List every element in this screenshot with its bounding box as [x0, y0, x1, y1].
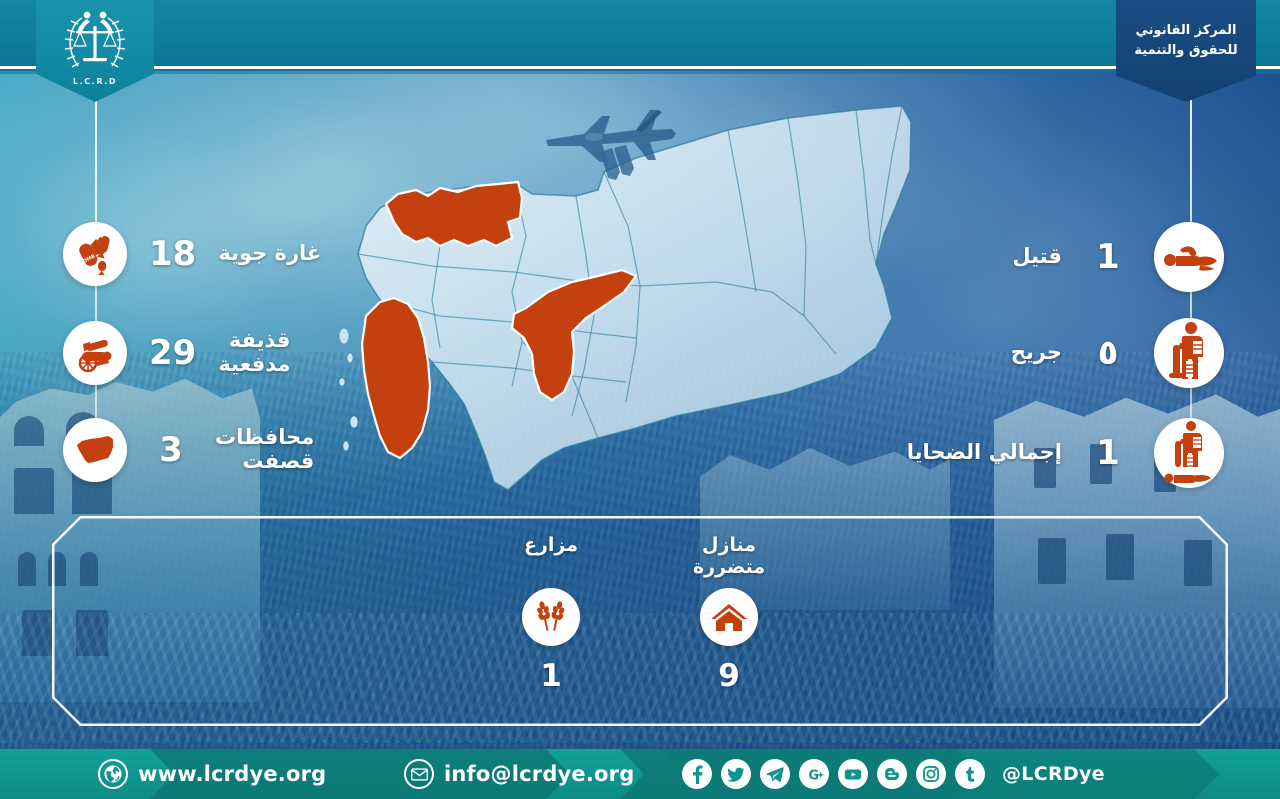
stat-row-total-victims: إجمالي الضحايا 1: [907, 418, 1224, 488]
damage-panel: مزارع: [52, 516, 1228, 726]
panel-value: 9: [718, 658, 740, 694]
org-name-line2: للحقوق والتنمية: [1134, 43, 1237, 58]
stat-label: محافظاتقصفت: [215, 426, 314, 474]
infographic-canvas: انتهاكات وجرائم التحالف السعودي في اليمن…: [0, 0, 1280, 799]
panel-item-farms: مزارع: [492, 534, 610, 694]
twitter-icon[interactable]: [721, 759, 751, 789]
stat-label: قتيل: [1012, 245, 1062, 269]
header-divider: [0, 66, 1280, 74]
stat-label: قذيفةمدفعية: [218, 329, 290, 377]
stat-label: إجمالي الضحايا: [907, 441, 1062, 465]
panel-item-damaged-houses: منازلمتضررة 9: [670, 534, 788, 694]
panel-label: منازلمتضررة: [693, 534, 765, 582]
youtube-icon[interactable]: [838, 759, 868, 789]
stat-row-injured: جريح ٥: [1011, 318, 1224, 388]
yemen-map-icon: [63, 418, 127, 482]
stat-row-artillery: 29 قذيفةمدفعية: [63, 321, 290, 385]
footer-bar: www.lcrdye.org info@lcrdye.org: [0, 749, 1280, 799]
stat-value: 3: [149, 433, 193, 467]
stat-value: 29: [149, 336, 196, 370]
header-bar: [0, 0, 1280, 66]
stat-row-governorates: 3 محافظاتقصفت: [63, 418, 314, 482]
stat-value: ٥: [1086, 336, 1130, 370]
stat-value: 1: [1086, 436, 1130, 470]
stat-row-airstrikes: BOMB 18 غارة جوية: [63, 222, 321, 286]
email-group[interactable]: info@lcrdye.org: [404, 749, 634, 799]
org-name-line1: المركز القانوني: [1136, 23, 1237, 38]
scales-of-justice-wreath-logo: [56, 6, 134, 82]
googleplus-icon[interactable]: G: [799, 759, 829, 789]
instagram-icon[interactable]: [916, 759, 946, 789]
telegram-icon[interactable]: [760, 759, 790, 789]
wheat-icon: [522, 588, 580, 646]
panel-label: مزارع: [524, 534, 578, 582]
total-victims-icon: [1154, 418, 1224, 488]
artillery-icon: [63, 321, 127, 385]
envelope-icon: [404, 759, 434, 789]
blogger-icon[interactable]: [877, 759, 907, 789]
injured-person-icon: [1154, 318, 1224, 388]
social-links[interactable]: G: [682, 749, 1105, 799]
website-group[interactable]: www.lcrdye.org: [98, 749, 326, 799]
stat-label: جريح: [1011, 341, 1062, 365]
panel-value: 1: [540, 658, 562, 694]
dead-body-icon: [1154, 222, 1224, 292]
fighter-jet-icon: [540, 96, 680, 186]
website-url[interactable]: www.lcrdye.org: [138, 762, 326, 786]
social-handle[interactable]: @LCRDye: [1002, 763, 1105, 785]
stat-value: 1: [1086, 240, 1130, 274]
email-address[interactable]: info@lcrdye.org: [444, 762, 634, 786]
tumblr-icon[interactable]: [955, 759, 985, 789]
svg-text:G: G: [808, 768, 819, 783]
house-icon: [700, 588, 758, 646]
stat-value: 18: [149, 237, 196, 271]
facebook-icon[interactable]: [682, 759, 712, 789]
bomb-icon: BOMB: [63, 222, 127, 286]
globe-icon: [98, 759, 128, 789]
stat-label: غارة جوية: [218, 242, 321, 266]
stat-row-killed: قتيل 1: [1012, 222, 1224, 292]
